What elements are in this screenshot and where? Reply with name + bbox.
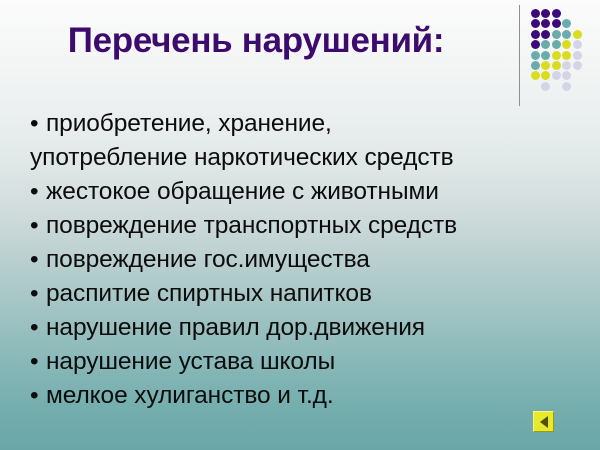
list-item-label: мелкое хулиганство и т.д. (46, 382, 334, 409)
list-item-label: жестокое обращение с животными (46, 178, 439, 205)
violations-list: •приобретение, хранение,употребление нар… (30, 107, 578, 413)
title-area: Перечень нарушений: (0, 14, 512, 66)
presentation-slide: Перечень нарушений: •приобретение, хране… (0, 0, 600, 450)
list-item: •повреждение транспортных средств (30, 209, 578, 243)
bullet-marker: • (30, 107, 46, 141)
bullet-marker: • (30, 379, 46, 413)
bullet-marker: • (30, 209, 46, 243)
list-item: •нарушение правил дор.движения (30, 311, 578, 345)
decorative-dot (562, 61, 571, 70)
decorative-dot (573, 40, 582, 49)
bullet-marker: • (30, 277, 46, 311)
list-item-label: нарушение правил дор.движения (46, 314, 425, 341)
decorative-dot (541, 82, 550, 91)
decorative-dot (531, 51, 540, 60)
decorative-dot (541, 19, 550, 28)
bullet-marker: • (30, 175, 46, 209)
list-item: •жестокое обращение с животными (30, 175, 578, 209)
bullet-marker: • (30, 345, 46, 379)
decorative-dot (541, 40, 550, 49)
decorative-dot (531, 9, 540, 18)
decorative-dot (552, 9, 561, 18)
decorative-dot (531, 30, 540, 39)
decorative-dot (552, 19, 561, 28)
decorative-dot (562, 40, 571, 49)
decorative-dot (573, 51, 582, 60)
decorative-dot (541, 71, 550, 80)
decorative-dot (541, 9, 550, 18)
decorative-dot (531, 40, 540, 49)
decorative-dot-grid (531, 9, 583, 97)
list-item-label: распитие спиртных напитков (46, 280, 372, 307)
decorative-dot (541, 30, 550, 39)
decorative-dot (541, 61, 550, 70)
decorative-dot (552, 51, 561, 60)
list-item: •повреждение гос.имущества (30, 243, 578, 277)
back-navigation-button[interactable] (533, 411, 554, 432)
decorative-dot (552, 71, 561, 80)
decorative-dot (552, 30, 561, 39)
decorative-dot (562, 30, 571, 39)
decorative-dot (562, 51, 571, 60)
list-item-continuation: употребление наркотических средств (30, 141, 578, 175)
decorative-dot (541, 51, 550, 60)
list-item-label: приобретение, хранение, (46, 110, 332, 137)
decorative-dot (573, 30, 582, 39)
list-item-label: повреждение транспортных средств (46, 212, 457, 239)
list-item: •нарушение устава школы (30, 345, 578, 379)
list-item: •приобретение, хранение, (30, 107, 578, 141)
decorative-dot (552, 40, 561, 49)
bullet-marker: • (30, 243, 46, 277)
decorative-dot (552, 61, 561, 70)
list-item-label: употребление наркотических средств (30, 144, 454, 171)
decorative-dot (562, 82, 571, 91)
list-item: •мелкое хулиганство и т.д. (30, 379, 578, 413)
decorative-dot (531, 19, 540, 28)
decorative-dot (531, 71, 540, 80)
decorative-dot (531, 61, 540, 70)
decorative-dot (562, 19, 571, 28)
triangle-left-icon (540, 416, 548, 428)
list-item: •распитие спиртных напитков (30, 277, 578, 311)
list-item-label: повреждение гос.имущества (46, 246, 370, 273)
vertical-divider (519, 5, 520, 106)
page-title: Перечень нарушений: (68, 23, 445, 58)
decorative-dot (573, 61, 582, 70)
bullet-marker: • (30, 311, 46, 345)
list-item-label: нарушение устава школы (46, 348, 335, 375)
decorative-dot (562, 71, 571, 80)
